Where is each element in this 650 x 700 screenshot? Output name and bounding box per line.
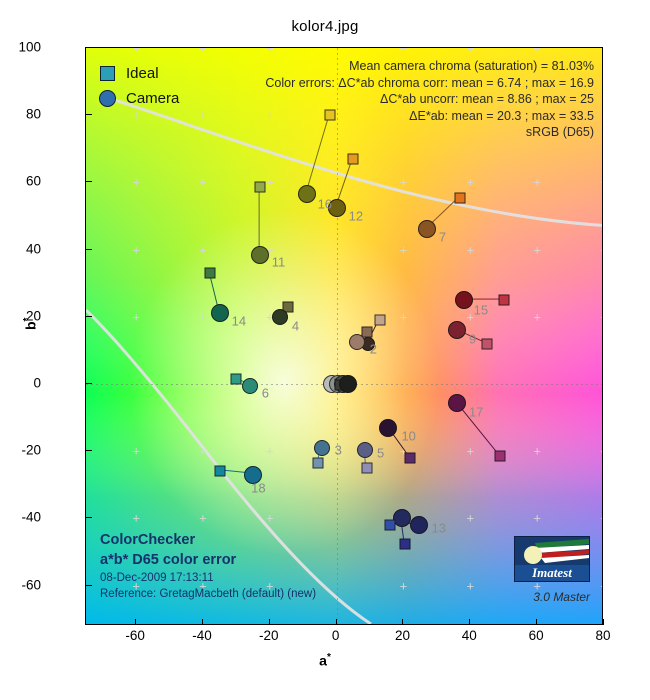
y-tick-label: 60 xyxy=(26,174,41,189)
legend-item-camera: Camera xyxy=(100,86,179,111)
x-tick-label: -40 xyxy=(192,628,212,643)
x-tick-label: 80 xyxy=(595,628,610,643)
camera-marker xyxy=(455,291,473,309)
y-tick-mark xyxy=(86,47,92,48)
ideal-square-icon xyxy=(100,66,115,81)
ideal-marker xyxy=(455,192,466,203)
camera-marker xyxy=(242,378,258,394)
x-tick-label: -20 xyxy=(259,628,279,643)
camera-marker xyxy=(251,246,269,264)
ideal-marker xyxy=(375,315,386,326)
x-axis-label: a* xyxy=(0,652,650,669)
x-tick-mark xyxy=(603,619,604,625)
patch-label: 10 xyxy=(401,428,415,443)
x-tick-label: 0 xyxy=(332,628,340,643)
y-tick-label: 100 xyxy=(18,40,41,55)
info-reference: Reference: GretagMacbeth (default) (new) xyxy=(100,586,316,602)
x-tick-mark xyxy=(202,619,203,625)
y-tick-mark xyxy=(86,249,92,250)
imatest-logo-text: Imatest xyxy=(531,565,572,580)
patch-label: 5 xyxy=(377,445,384,460)
ideal-marker xyxy=(361,463,372,474)
x-tick-mark xyxy=(536,619,537,625)
patch-label: 6 xyxy=(262,385,269,400)
patch-label: 7 xyxy=(439,230,446,245)
camera-marker xyxy=(349,334,365,350)
legend-label-ideal: Ideal xyxy=(126,65,159,82)
ideal-marker xyxy=(400,538,411,549)
camera-marker xyxy=(357,442,373,458)
patch-label: 11 xyxy=(272,254,286,269)
info-subtitle: a*b* D65 color error xyxy=(100,550,316,570)
x-tick-mark xyxy=(336,619,337,625)
y-tick-mark xyxy=(86,585,92,586)
y-axis-label: b* xyxy=(22,318,39,330)
ideal-marker xyxy=(495,451,506,462)
stat-colorspace: sRGB (D65) xyxy=(265,124,594,141)
patch-label: 2 xyxy=(370,342,377,357)
y-tick-mark xyxy=(86,181,92,182)
ideal-marker xyxy=(348,153,359,164)
legend-label-camera: Camera xyxy=(126,90,179,107)
stat-delta-e: ΔE*ab: mean = 20.3 ; max = 33.5 xyxy=(265,108,594,125)
y-tick-label: -40 xyxy=(21,510,41,525)
ideal-marker xyxy=(385,520,396,531)
camera-marker xyxy=(272,309,288,325)
ideal-marker xyxy=(482,338,493,349)
x-tick-label: 20 xyxy=(395,628,410,643)
patch-label: 15 xyxy=(474,303,488,318)
ideal-marker xyxy=(313,458,324,469)
y-tick-label: 0 xyxy=(33,376,41,391)
ideal-marker xyxy=(204,268,215,279)
patch-label: 16 xyxy=(318,197,332,212)
y-tick-label: 80 xyxy=(26,107,41,122)
stat-chroma-corr: Color errors: ΔC*ab chroma corr: mean = … xyxy=(265,75,594,92)
y-tick-mark xyxy=(86,316,92,317)
stat-chroma-uncorr: ΔC*ab uncorr: mean = 8.86 ; max = 25 xyxy=(265,91,594,108)
camera-marker xyxy=(211,304,229,322)
x-tick-mark xyxy=(269,619,270,625)
camera-marker xyxy=(379,419,397,437)
patch-label: 12 xyxy=(349,208,363,223)
x-tick-mark xyxy=(402,619,403,625)
patch-label: 9 xyxy=(469,332,476,347)
plot-page: kolor4.jpg xyxy=(0,0,650,700)
x-tick-mark xyxy=(469,619,470,625)
info-timestamp: 08-Dec-2009 17:13:11 xyxy=(100,570,316,586)
camera-marker xyxy=(448,321,466,339)
stat-mean-chroma: Mean camera chroma (saturation) = 81.03% xyxy=(265,58,594,75)
y-tick-mark xyxy=(86,450,92,451)
y-tick-label: -60 xyxy=(21,577,41,592)
camera-marker xyxy=(339,375,357,393)
camera-marker xyxy=(314,440,330,456)
ideal-marker xyxy=(254,182,265,193)
ideal-marker xyxy=(405,452,416,463)
x-tick-label: 60 xyxy=(529,628,544,643)
legend-item-ideal: Ideal xyxy=(100,61,179,86)
statistics-block: Mean camera chroma (saturation) = 81.03%… xyxy=(265,58,594,141)
y-tick-mark xyxy=(86,114,92,115)
camera-marker xyxy=(410,516,428,534)
camera-marker xyxy=(298,185,316,203)
y-tick-label: -20 xyxy=(21,443,41,458)
patch-label: 3 xyxy=(335,442,342,457)
version-label: 3.0 Master xyxy=(533,590,590,604)
plot-area: ++++++++++++++++++++++++++++++++++++++++… xyxy=(85,47,603,625)
ideal-marker xyxy=(231,374,242,385)
camera-marker xyxy=(418,220,436,238)
ideal-marker xyxy=(214,466,225,477)
x-tick-label: -60 xyxy=(125,628,145,643)
ideal-marker xyxy=(498,295,509,306)
imatest-logo: Imatest xyxy=(514,536,590,582)
info-title: ColorChecker xyxy=(100,530,316,550)
info-block: ColorChecker a*b* D65 color error 08-Dec… xyxy=(100,530,316,602)
y-tick-label: 40 xyxy=(26,241,41,256)
patch-label: 14 xyxy=(232,314,246,329)
patch-label: 13 xyxy=(432,521,446,536)
camera-marker xyxy=(448,394,466,412)
x-tick-label: 40 xyxy=(462,628,477,643)
legend: Ideal Camera xyxy=(100,61,179,111)
patch-label: 18 xyxy=(251,480,265,495)
camera-circle-icon xyxy=(99,90,116,107)
y-tick-mark xyxy=(86,517,92,518)
page-title: kolor4.jpg xyxy=(0,18,650,35)
y-tick-mark xyxy=(86,383,92,384)
x-tick-mark xyxy=(135,619,136,625)
ideal-marker xyxy=(361,326,372,337)
patch-label: 17 xyxy=(469,404,483,419)
patch-label: 4 xyxy=(292,318,299,333)
